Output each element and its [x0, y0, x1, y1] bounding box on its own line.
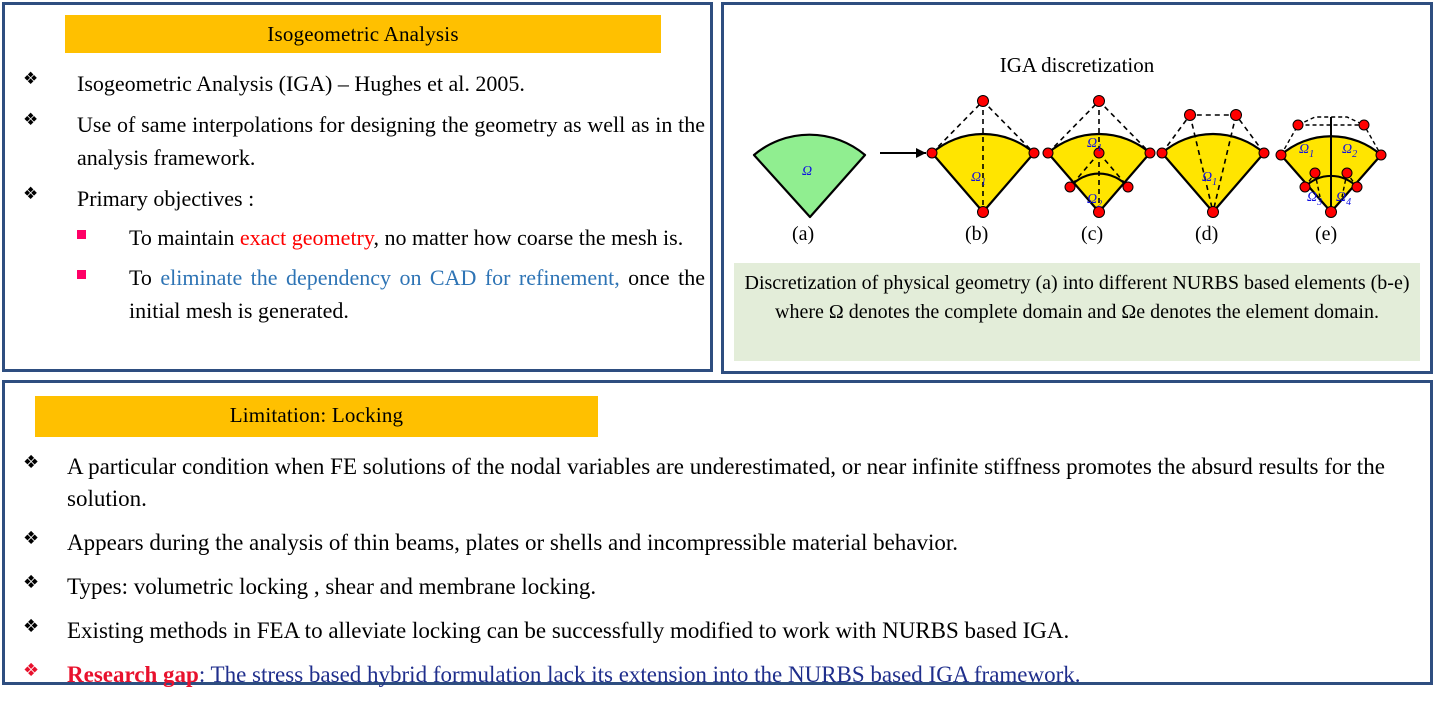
iga-discretization-panel: IGA discretization Ω (a) Ω1 (b): [721, 2, 1433, 374]
list-item: ❖ Isogeometric Analysis (IGA) – Hughes e…: [23, 67, 705, 100]
list-item: ❖ Existing methods in FEA to alleviate l…: [23, 615, 1413, 647]
element-sector: [1162, 134, 1264, 212]
limitation-locking-panel: Limitation: Locking ❖ A particular condi…: [2, 380, 1433, 685]
iga-discretization-figure: Ω (a) Ω1 (b): [730, 77, 1428, 245]
figure-sublabel-c: (c): [1081, 223, 1103, 245]
research-gap-label: Research gap: [67, 662, 199, 687]
figure-part-c: Ω1 Ω2 (c): [1043, 96, 1155, 246]
sub-list-item-text: To maintain exact geometry, no matter ho…: [129, 221, 705, 254]
panel-title-limitation-locking: Limitation: Locking: [35, 396, 598, 437]
panel-title-isogeometric-analysis: Isogeometric Analysis: [65, 15, 661, 53]
sub-list-item-text: To eliminate the dependency on CAD for r…: [129, 261, 705, 327]
list-item-text: Use of same interpolations for designing…: [77, 108, 705, 174]
square-bullet-icon: [77, 230, 86, 239]
arrow-icon: [880, 148, 926, 158]
list-item: ❖ Use of same interpolations for designi…: [23, 108, 705, 174]
figure-sublabel-a: (a): [792, 223, 814, 245]
list-item: ❖ A particular condition when FE solutio…: [23, 451, 1413, 515]
figure-caption: Discretization of physical geometry (a) …: [734, 263, 1420, 361]
diamond-bullet-icon: ❖: [23, 662, 49, 680]
highlight-exact-geometry: exact geometry: [240, 225, 374, 250]
list-item-text: A particular condition when FE solutions…: [67, 454, 1385, 511]
diamond-bullet-icon: ❖: [23, 574, 49, 592]
list-item-text: Research gap: The stress based hybrid fo…: [67, 662, 1081, 687]
omega-label: Ω: [802, 164, 812, 179]
isogeometric-analysis-panel: Isogeometric Analysis ❖ Isogeometric Ana…: [2, 2, 713, 372]
list-item-research-gap: ❖ Research gap: The stress based hybrid …: [23, 659, 1413, 691]
sub-list-item: To maintain exact geometry, no matter ho…: [77, 221, 705, 254]
list-item-text: Appears during the analysis of thin beam…: [67, 530, 958, 555]
diamond-bullet-icon: ❖: [23, 454, 49, 472]
list-item: ❖ Types: volumetric locking , shear and …: [23, 571, 1413, 603]
square-bullet-icon: [77, 270, 86, 279]
figure-title: IGA discretization: [724, 53, 1430, 78]
iga-bullet-list: ❖ Isogeometric Analysis (IGA) – Hughes e…: [23, 67, 705, 335]
locking-bullet-list: ❖ A particular condition when FE solutio…: [23, 451, 1413, 703]
figure-part-b: Ω1 (b): [927, 96, 1039, 246]
iga-sub-bullet-list: To maintain exact geometry, no matter ho…: [77, 221, 705, 327]
list-item: ❖ Primary objectives : To maintain exact…: [23, 182, 705, 327]
list-item-text: Primary objectives :: [77, 186, 254, 211]
diamond-bullet-icon: ❖: [23, 112, 49, 129]
figure-sublabel-b: (b): [965, 223, 988, 245]
diamond-bullet-icon: ❖: [23, 71, 49, 88]
list-item-text: Types: volumetric locking , shear and me…: [67, 574, 596, 599]
figure-sublabel-e: (e): [1315, 223, 1337, 245]
highlight-eliminate-dependency: eliminate the dependency on CAD for refi…: [160, 265, 619, 290]
research-gap-statement: The stress based hybrid formulation lack…: [205, 662, 1080, 687]
list-item-text: Existing methods in FEA to alleviate loc…: [67, 618, 1069, 643]
diamond-bullet-icon: ❖: [23, 618, 49, 636]
figure-part-d: Ω1 (d): [1157, 110, 1269, 246]
figure-part-e: Ω1 Ω2 Ω3 Ω4 (e): [1276, 117, 1386, 245]
sub-list-item: To eliminate the dependency on CAD for r…: [77, 261, 705, 327]
list-item: ❖ Appears during the analysis of thin be…: [23, 527, 1413, 559]
figure-part-a: Ω (a): [754, 135, 865, 245]
figure-sublabel-d: (d): [1195, 223, 1218, 245]
diamond-bullet-icon: ❖: [23, 530, 49, 548]
list-item-text: Isogeometric Analysis (IGA) – Hughes et …: [77, 71, 525, 96]
diamond-bullet-icon: ❖: [23, 186, 49, 203]
